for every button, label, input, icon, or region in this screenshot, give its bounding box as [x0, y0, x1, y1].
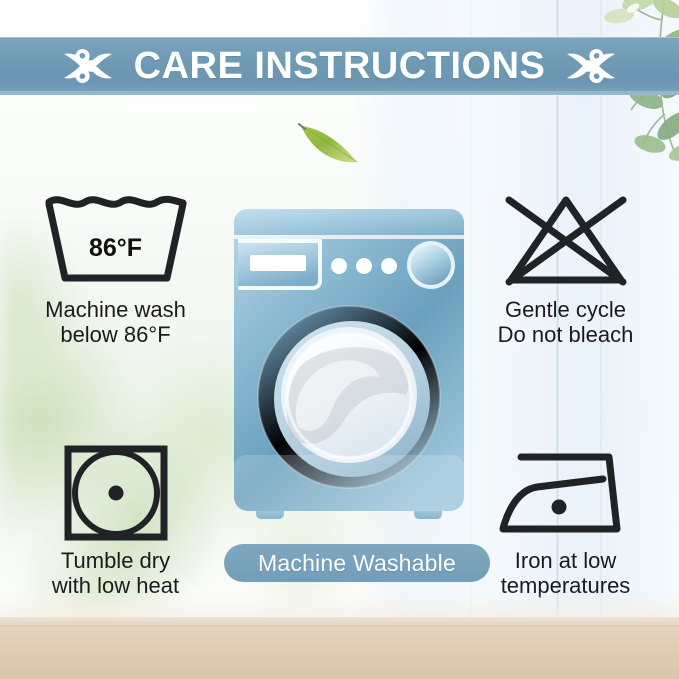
triangle-crossed-out-icon: [491, 192, 641, 292]
iron-icon: [491, 443, 641, 543]
care-item-tumble-dry-low: Tumble dry with low heat: [8, 443, 223, 598]
fleur-de-lis-icon: [60, 45, 116, 87]
care-instructions-poster: CARE INSTRUCTIONS: [0, 0, 679, 679]
page-title: CARE INSTRUCTIONS: [134, 47, 546, 85]
machine-washable-badge: Machine Washable: [224, 544, 490, 582]
care-item-label: Machine wash below 86°F: [45, 298, 186, 347]
care-item-gentle-cycle-no-bleach: Gentle cycle Do not bleach: [458, 192, 673, 347]
care-item-iron-low-temp: Iron at low temperatures: [458, 443, 673, 598]
care-item-label: Gentle cycle Do not bleach: [498, 298, 634, 347]
washer-indicator-dot: [356, 258, 372, 274]
washer-drawer-handle: [250, 255, 306, 271]
table-grain: [0, 617, 679, 679]
wash-temperature-value: 86°F: [41, 234, 191, 263]
tumble-dry-square-icon: [56, 443, 176, 543]
care-item-machine-wash: 86°F Machine wash below 86°F: [8, 192, 223, 347]
washer-top-lid: [234, 209, 464, 235]
wash-tub-symbol: 86°F: [41, 192, 191, 292]
wooden-table-surface: [0, 617, 679, 679]
badge-label: Machine Washable: [258, 550, 456, 577]
washer-indicator-dot: [381, 258, 397, 274]
washer-body-sheen: [234, 455, 464, 511]
washer-lid-seam: [234, 235, 464, 239]
leaf-icon: [297, 120, 363, 166]
fleur-de-lis-icon: [563, 45, 619, 87]
header-banner: CARE INSTRUCTIONS: [0, 37, 679, 95]
washing-machine-illustration: [228, 205, 470, 535]
washer-program-knob: [411, 245, 451, 285]
table-haze: [0, 591, 679, 617]
washer-indicator-dot: [331, 258, 347, 274]
